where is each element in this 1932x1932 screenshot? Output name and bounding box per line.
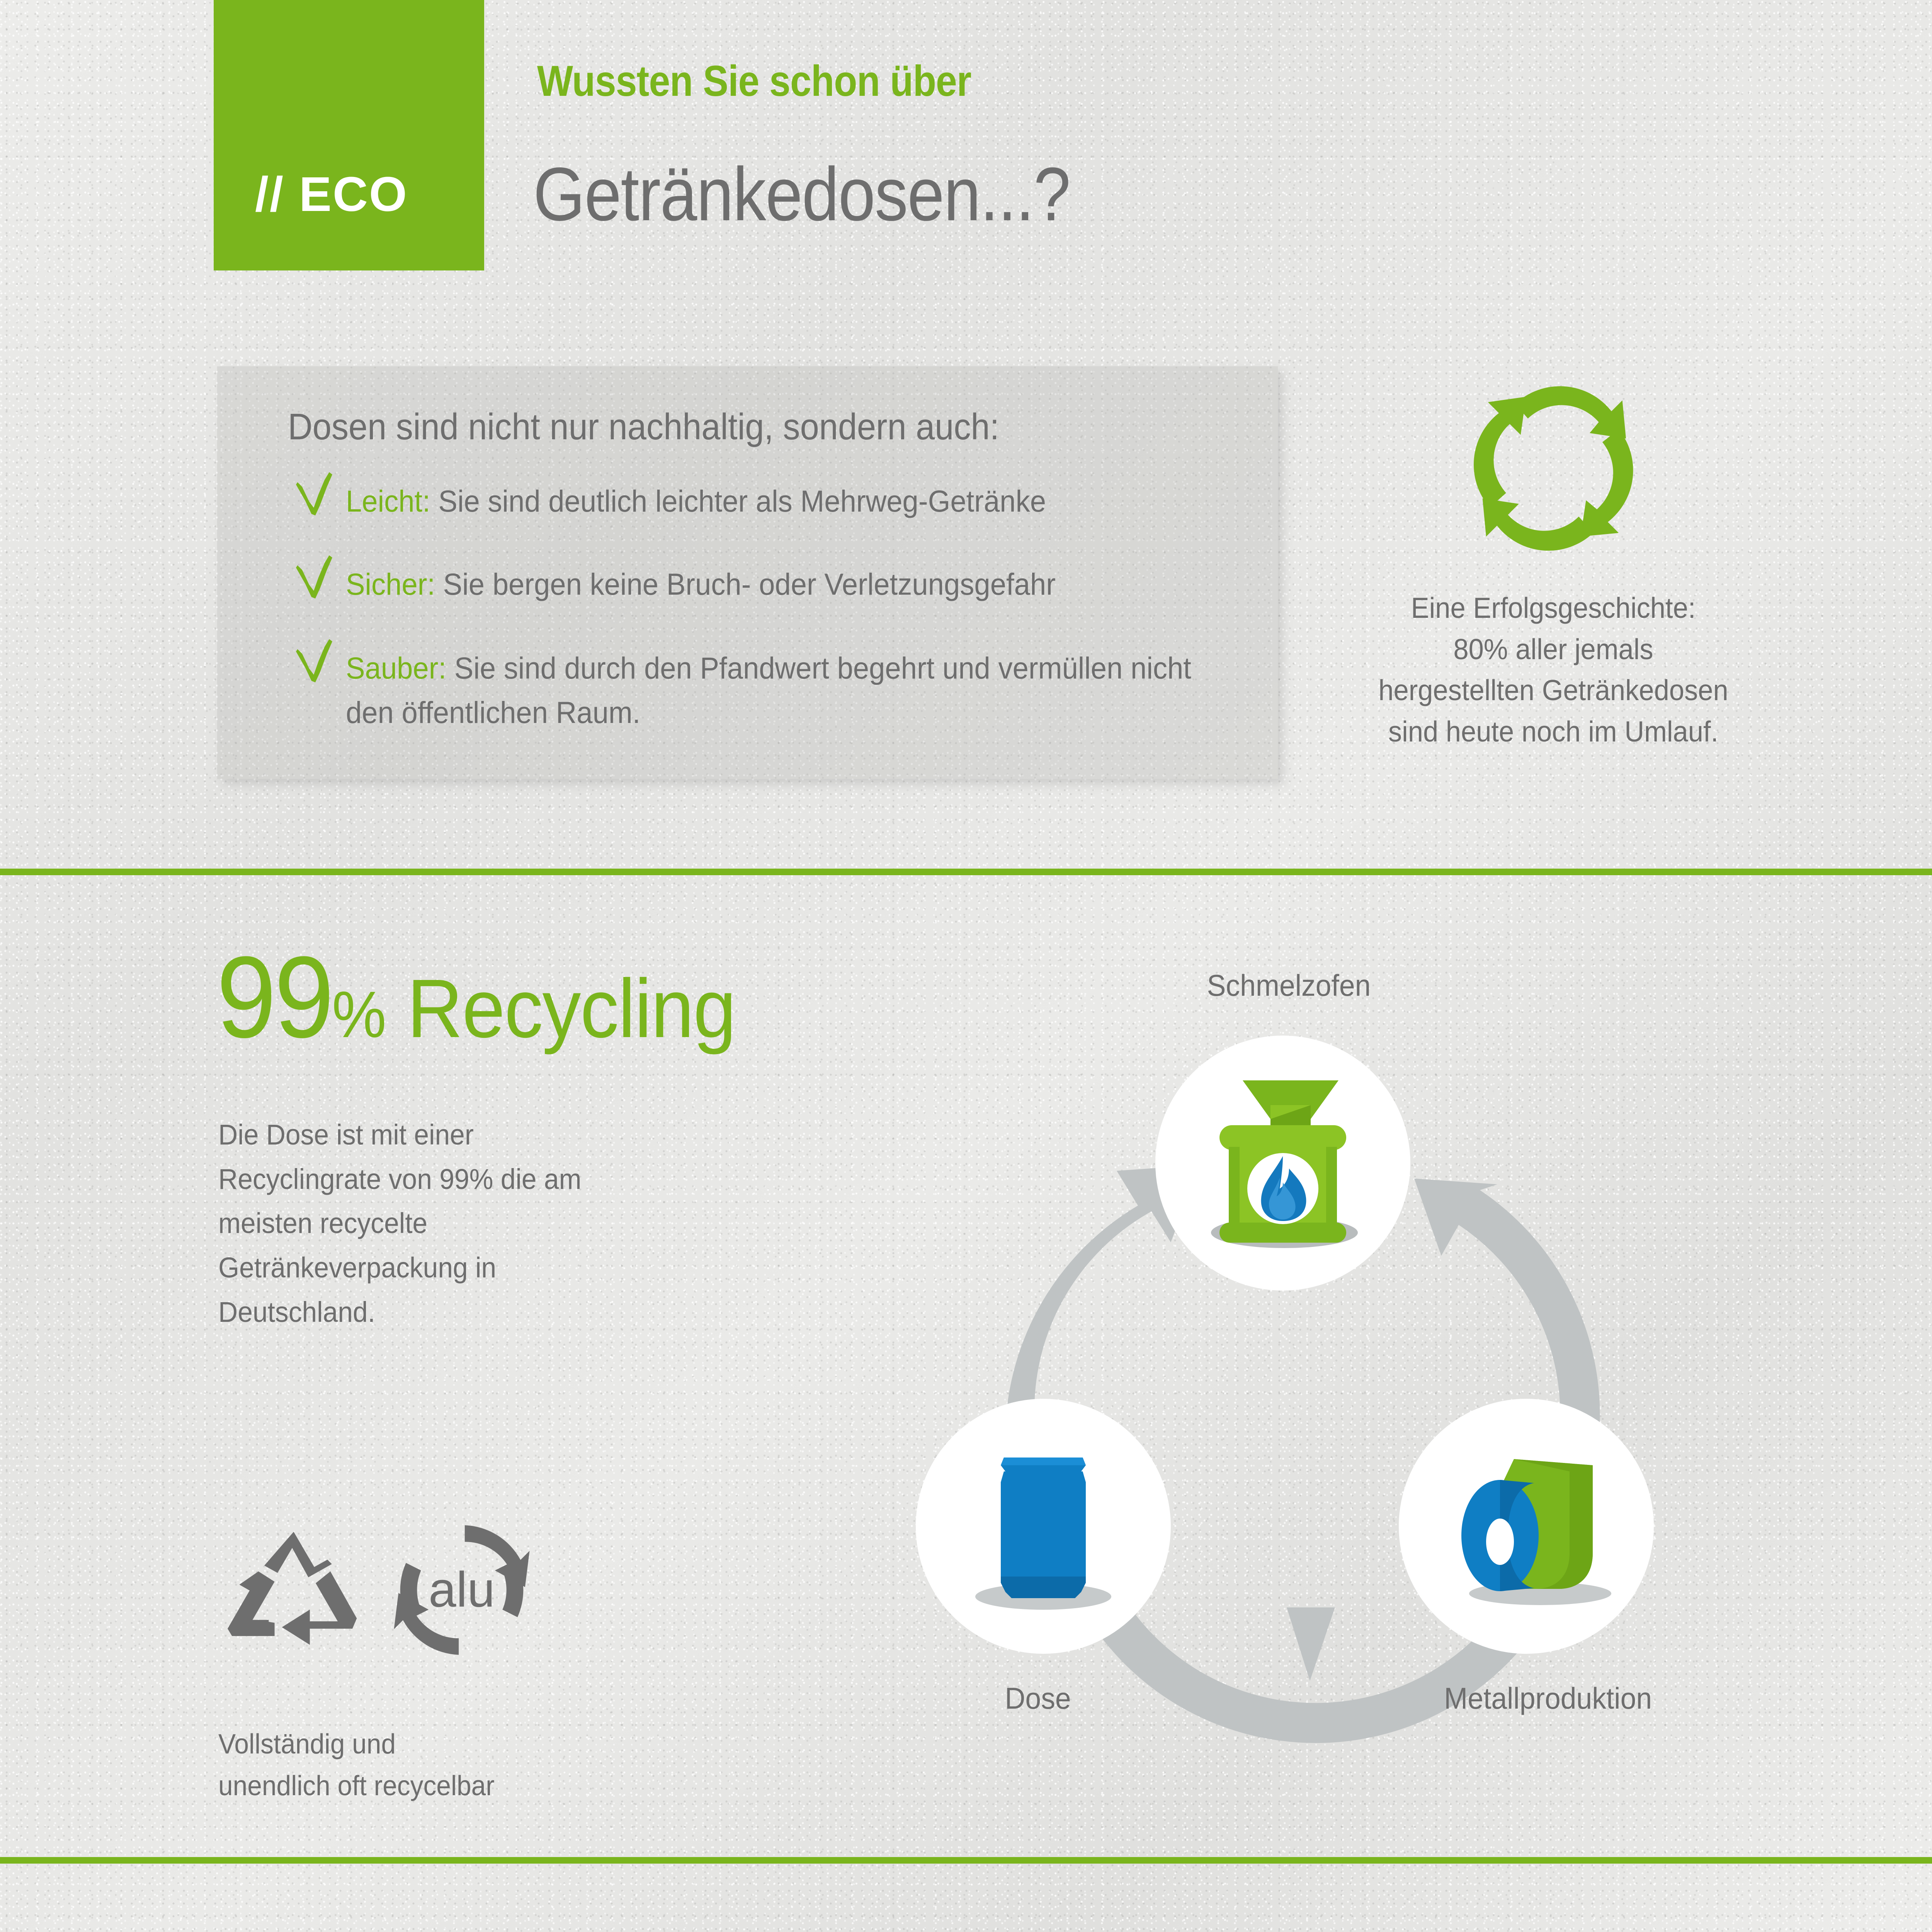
fact-body: Sie sind durch den Pfandwert begehrt und… [346,651,1191,730]
cycle-label-schmelzofen: Schmelzofen [1207,968,1371,1003]
success-line-1: Eine Erfolgsgeschichte: [1339,587,1767,629]
checkmark-icon [294,554,336,600]
recycle-arrows-icon [1463,377,1644,558]
alu-label: alu [429,1562,495,1617]
section-divider-top [0,869,1932,875]
page-title: Getränkedosen...? [533,151,1070,238]
section-divider-bottom [0,1857,1932,1864]
fact-item-sauber: Sauber: Sie sind durch den Pfandwert beg… [294,646,1275,735]
success-story-text: Eine Erfolgsgeschichte: 80% aller jemals… [1339,587,1767,752]
furnace-icon [1198,1074,1368,1252]
fact-lead: Leicht: [346,484,430,518]
symbols-caption-line-1: Vollständig und [218,1723,654,1765]
header-kicker: Wussten Sie schon über [537,56,971,106]
facts-heading: Dosen sind nicht nur nachhaltig, sondern… [288,406,999,448]
infographic-page: // ECO Wussten Sie schon über Getränkedo… [0,0,1932,1932]
fact-body: Sie sind deutlich leichter als Mehrweg-G… [430,484,1046,518]
fact-lead: Sauber: [346,651,446,685]
stat-word: Recycling [386,962,736,1055]
fact-item-sicher: Sicher: Sie bergen keine Bruch- oder Ver… [294,562,1275,607]
success-line-3: hergestellten Getränkedosen [1339,670,1767,711]
recycling-description: Die Dose ist mit einer Recyclingrate von… [218,1113,582,1334]
eco-badge-label: // ECO [255,170,408,219]
success-line-4: sind heute noch im Umlauf. [1339,711,1767,752]
cycle-label-dose: Dose [1005,1681,1071,1716]
symbols-caption: Vollständig und unendlich oft recycelbar [218,1723,654,1807]
fact-lead: Sicher: [346,567,435,601]
alu-recycling-icon: alu [386,1515,537,1665]
stat-percent: % [332,978,386,1051]
checkmark-icon [294,638,336,684]
metal-coil-icon [1449,1445,1611,1611]
mobius-recycling-icon [220,1519,367,1665]
fact-text: Sauber: Sie sind durch den Pfandwert beg… [346,646,1219,735]
success-line-2: 80% aller jemals [1339,629,1767,670]
checkmark-icon [294,471,336,517]
beverage-can-icon [970,1445,1117,1611]
cycle-label-metallproduktion: Metallproduktion [1444,1681,1652,1716]
stat-number: 99 [216,932,332,1062]
symbols-caption-line-2: unendlich oft recycelbar [218,1765,654,1807]
recycling-rate-headline: 99% Recycling [216,939,736,1055]
fact-item-leicht: Leicht: Sie sind deutlich leichter als M… [294,479,1275,524]
recycling-cycle-diagram: Schmelzofen Dose Metallproduktion [900,989,1743,1793]
fact-text: Sicher: Sie bergen keine Bruch- oder Ver… [346,562,1219,607]
fact-body: Sie bergen keine Bruch- oder Verletzungs… [435,567,1056,601]
eco-badge-block [214,0,484,270]
fact-text: Leicht: Sie sind deutlich leichter als M… [346,479,1219,524]
